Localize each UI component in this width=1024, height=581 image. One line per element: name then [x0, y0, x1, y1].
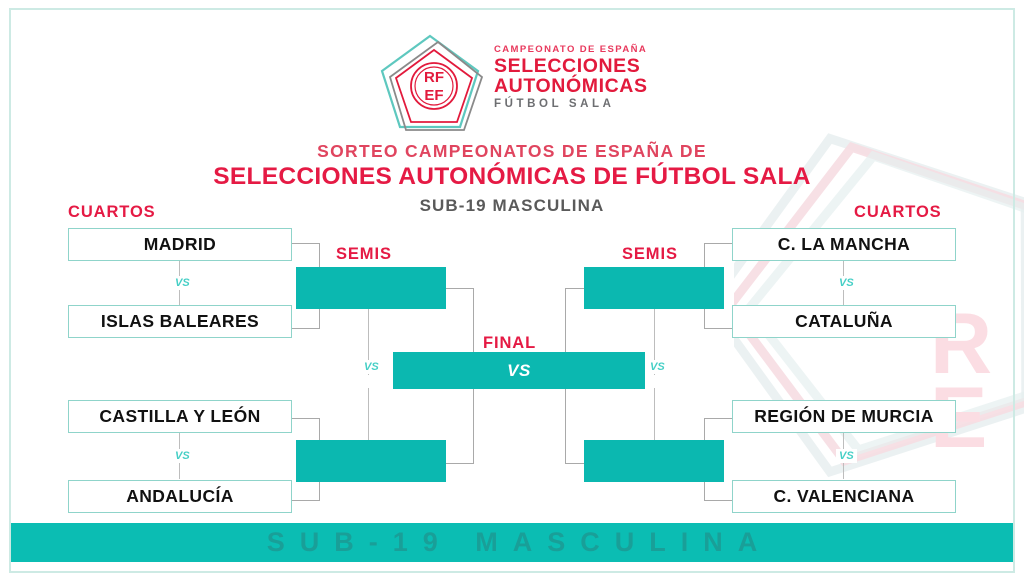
team-box-region-de-murcia[interactable]: REGIÓN DE MURCIA — [732, 400, 956, 433]
bracket-poster: R E RF EF CAMPEONATO DE ESPAÑA SELECCION… — [0, 0, 1024, 581]
vs-line-semi-left-lower — [368, 388, 369, 440]
vs-label-semi-left: VS — [361, 360, 382, 374]
label-semis-right: SEMIS — [622, 245, 678, 264]
connector-left-semi2-out — [446, 463, 474, 464]
team-box-andalucia[interactable]: ANDALUCÍA — [68, 480, 292, 513]
svg-text:RF: RF — [424, 69, 444, 86]
semifinal-slot-left-top[interactable] — [296, 267, 446, 309]
team-box-c-la-mancha[interactable]: C. LA MANCHA — [732, 228, 956, 261]
team-box-madrid[interactable]: MADRID — [68, 228, 292, 261]
semifinal-slot-left-bottom[interactable] — [296, 440, 446, 482]
connector-right-q1-bottom — [704, 328, 732, 329]
semifinal-slot-right-top[interactable] — [584, 267, 724, 309]
vs-label-semi-right: VS — [647, 360, 668, 374]
team-name: C. LA MANCHA — [778, 234, 910, 255]
banner-label: SUB-19 MASCULINA — [11, 523, 1013, 562]
connector-left-q2-top — [292, 418, 320, 419]
connector-left-q1-top — [292, 243, 320, 244]
team-name: CATALUÑA — [795, 311, 893, 332]
rfef-logo: RF EF CAMPEONATO DE ESPAÑA SELECCIONES A… — [378, 30, 668, 135]
team-name: C. VALENCIANA — [774, 486, 915, 507]
team-name: ANDALUCÍA — [126, 486, 234, 507]
logo-line-selecciones: SELECCIONES — [494, 56, 669, 76]
rfef-logo-mark: RF EF — [378, 30, 488, 135]
label-semis-left: SEMIS — [336, 245, 392, 264]
label-final: FINAL — [483, 334, 536, 353]
title-selecciones: SELECCIONES AUTONÓMICAS DE FÚTBOL SALA — [0, 162, 1024, 191]
svg-text:EF: EF — [424, 87, 443, 104]
title-sorteo: SORTEO CAMPEONATOS DE ESPAÑA DE — [0, 141, 1024, 162]
vs-label-left-q1: VS — [172, 276, 193, 290]
logo-line-futbol-sala: FÚTBOL SALA — [494, 96, 669, 112]
semifinal-slot-right-bottom[interactable] — [584, 440, 724, 482]
connector-right-q2-top — [704, 418, 732, 419]
label-cuartos-right: CUARTOS — [854, 203, 942, 222]
vs-line-semi-right-lower — [654, 388, 655, 440]
team-name: CASTILLA Y LEÓN — [99, 406, 260, 427]
connector-left-q1-bottom — [292, 328, 320, 329]
connector-left-semi1-out — [446, 288, 474, 289]
team-name: MADRID — [144, 234, 216, 255]
team-box-castilla-y-leon[interactable]: CASTILLA Y LEÓN — [68, 400, 292, 433]
team-box-c-valenciana[interactable]: C. VALENCIANA — [732, 480, 956, 513]
team-box-islas-baleares[interactable]: ISLAS BALEARES — [68, 305, 292, 338]
final-slot[interactable]: VS — [393, 352, 645, 389]
team-box-cataluna[interactable]: CATALUÑA — [732, 305, 956, 338]
connector-right-q2-bottom — [704, 500, 732, 501]
label-cuartos-left: CUARTOS — [68, 203, 156, 222]
vs-label-left-q2: VS — [172, 449, 193, 463]
logo-line-autonomicas: AUTONÓMICAS — [494, 76, 669, 96]
bottom-banner: SUB-19 MASCULINA — [11, 523, 1013, 562]
connector-right-q1-top — [704, 243, 732, 244]
connector-left-q2-bottom — [292, 500, 320, 501]
final-vs-label: VS — [507, 361, 531, 381]
team-name: REGIÓN DE MURCIA — [754, 406, 933, 427]
team-name: ISLAS BALEARES — [101, 311, 259, 332]
vs-label-right-q2: VS — [836, 449, 857, 463]
vs-label-right-q1: VS — [836, 276, 857, 290]
